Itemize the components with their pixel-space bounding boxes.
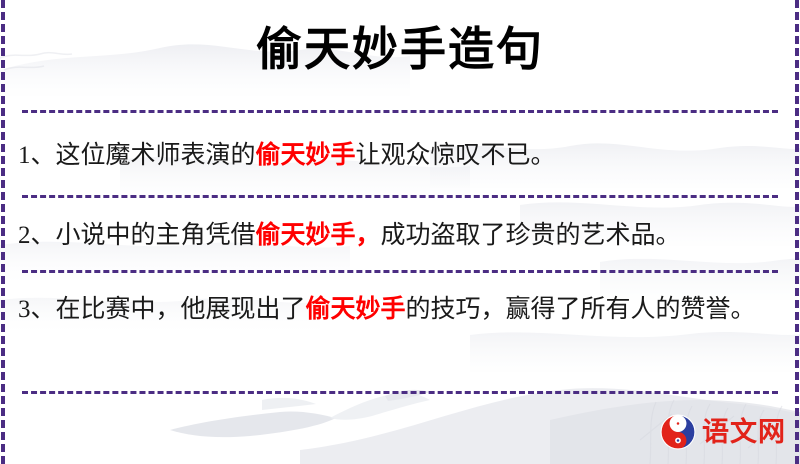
sentence-1-highlight: 偷天妙手 [256,142,356,169]
document-page: 偷天妙手造句 1、这位魔术师表演的偷天妙手让观众惊叹不已。 2、小说中的主角凭借… [0,0,800,464]
sentence-3-after: 的技巧，赢得了所有人的赞誉。 [406,296,756,323]
right-dashed-border [795,0,799,464]
sentence-item-2: 2、小说中的主角凭借偷天妙手，成功盗取了珍贵的艺术品。 [18,212,786,260]
sentence-3-index: 3、 [18,296,56,323]
sentence-item-1: 1、这位魔术师表演的偷天妙手让观众惊叹不已。 [18,132,786,180]
sentence-2-after: 成功盗取了珍贵的艺术品。 [381,222,681,249]
sentence-item-3: 3、在比赛中，他展现出了偷天妙手的技巧，赢得了所有人的赞誉。 [18,286,778,334]
left-dashed-border [1,0,5,464]
page-title: 偷天妙手造句 [0,20,800,80]
separator-line-1 [22,110,778,113]
site-logo: 语文网 [660,412,786,452]
sentence-1-index: 1、 [18,142,56,169]
site-logo-text: 语文网 [702,419,786,446]
sentence-1-before: 这位魔术师表演的 [56,142,256,169]
sentence-2-index: 2、 [18,222,56,249]
sentence-3-highlight: 偷天妙手 [306,296,406,323]
separator-line-3 [22,270,778,273]
sentence-2-before: 小说中的主角凭借 [56,222,256,249]
sentence-2-highlight: 偷天妙手， [256,222,381,249]
sentence-1-after: 让观众惊叹不已。 [356,142,556,169]
separator-line-4 [22,391,778,394]
separator-line-2 [22,195,778,198]
yinyang-circle-icon [660,414,696,450]
sentence-3-before: 在比赛中，他展现出了 [56,296,306,323]
